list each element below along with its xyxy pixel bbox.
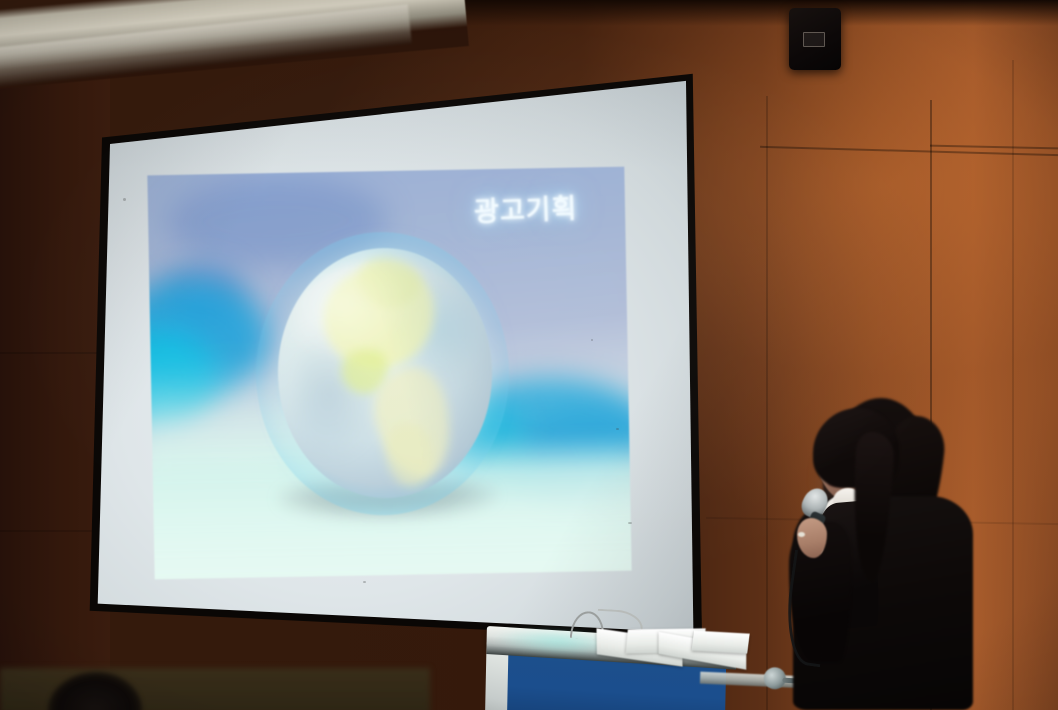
screen-blemish (123, 198, 126, 201)
projection-screen: 광고기획 (86, 62, 702, 652)
screen-blemish (616, 428, 619, 430)
papers-stack (596, 630, 747, 667)
wall-speaker (789, 8, 841, 70)
lectern (485, 625, 755, 710)
presenter-ring (798, 532, 805, 537)
slide-title: 광고기획 (474, 187, 579, 230)
wall-seam-vertical (766, 96, 768, 710)
projected-slide: 광고기획 (148, 167, 633, 580)
speaker-grille-icon (803, 32, 825, 47)
presentation-scene: 광고기획 (0, 0, 1058, 710)
wall-seam-vertical (1012, 60, 1014, 710)
paper-sheet (692, 631, 750, 654)
presenter (775, 392, 1005, 710)
